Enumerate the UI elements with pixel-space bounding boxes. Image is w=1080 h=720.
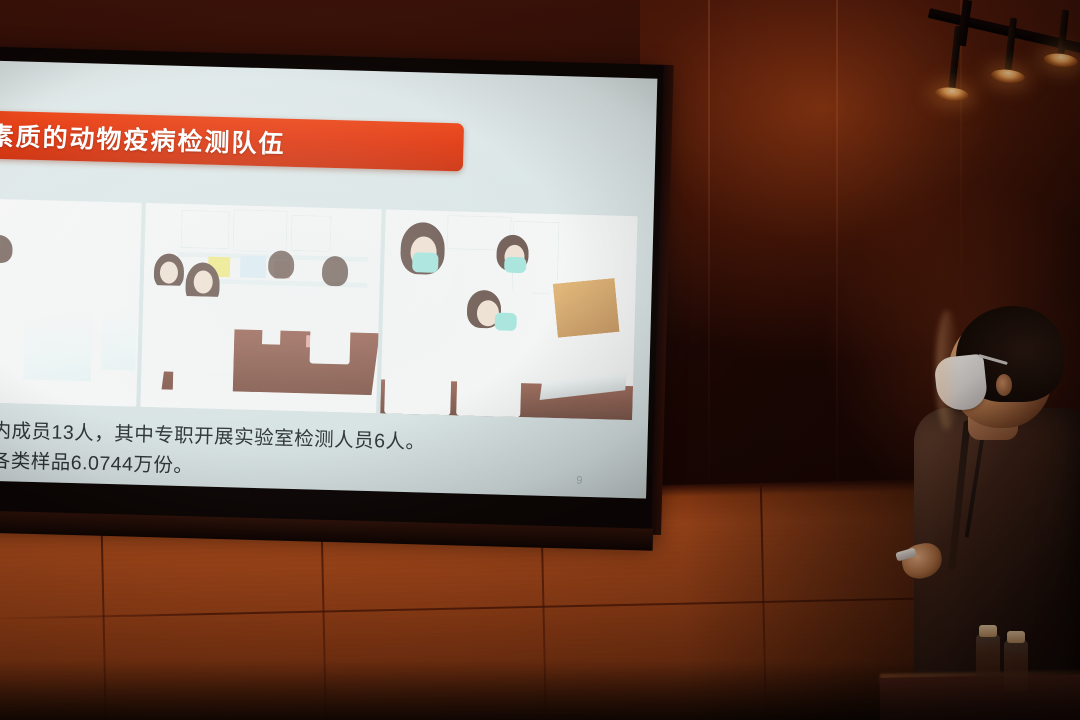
photo-lab-staff-corridor-group [0, 196, 142, 406]
slide-surface: 高素质的动物疫病检测队伍 [0, 60, 657, 499]
projection-screen: 高素质的动物疫病检测队伍 [0, 46, 666, 535]
presenter-ear [996, 374, 1012, 396]
page-title: 高素质的动物疫病检测队伍 [0, 114, 286, 161]
slide-photo-row [0, 196, 657, 420]
slide-body-text: 质量体系内成员13人，其中专职开展实验室检测人员6人。 年度检测各类样品6.07… [0, 414, 612, 493]
photo-lab-computer-workstation [380, 209, 637, 420]
slide-page-number: 9 [576, 475, 582, 487]
slide-title-banner: 高素质的动物疫病检测队伍 [0, 108, 464, 172]
wall-panel-seam [960, 0, 962, 330]
wall-panel-seam [836, 0, 838, 540]
water-bottle [976, 634, 1000, 686]
wall-panel-seam [708, 0, 710, 520]
photo-lab-bench-technicians [140, 203, 381, 413]
water-bottle [1004, 640, 1028, 692]
screenshot-root: 高素质的动物疫病检测队伍 [0, 0, 1080, 720]
